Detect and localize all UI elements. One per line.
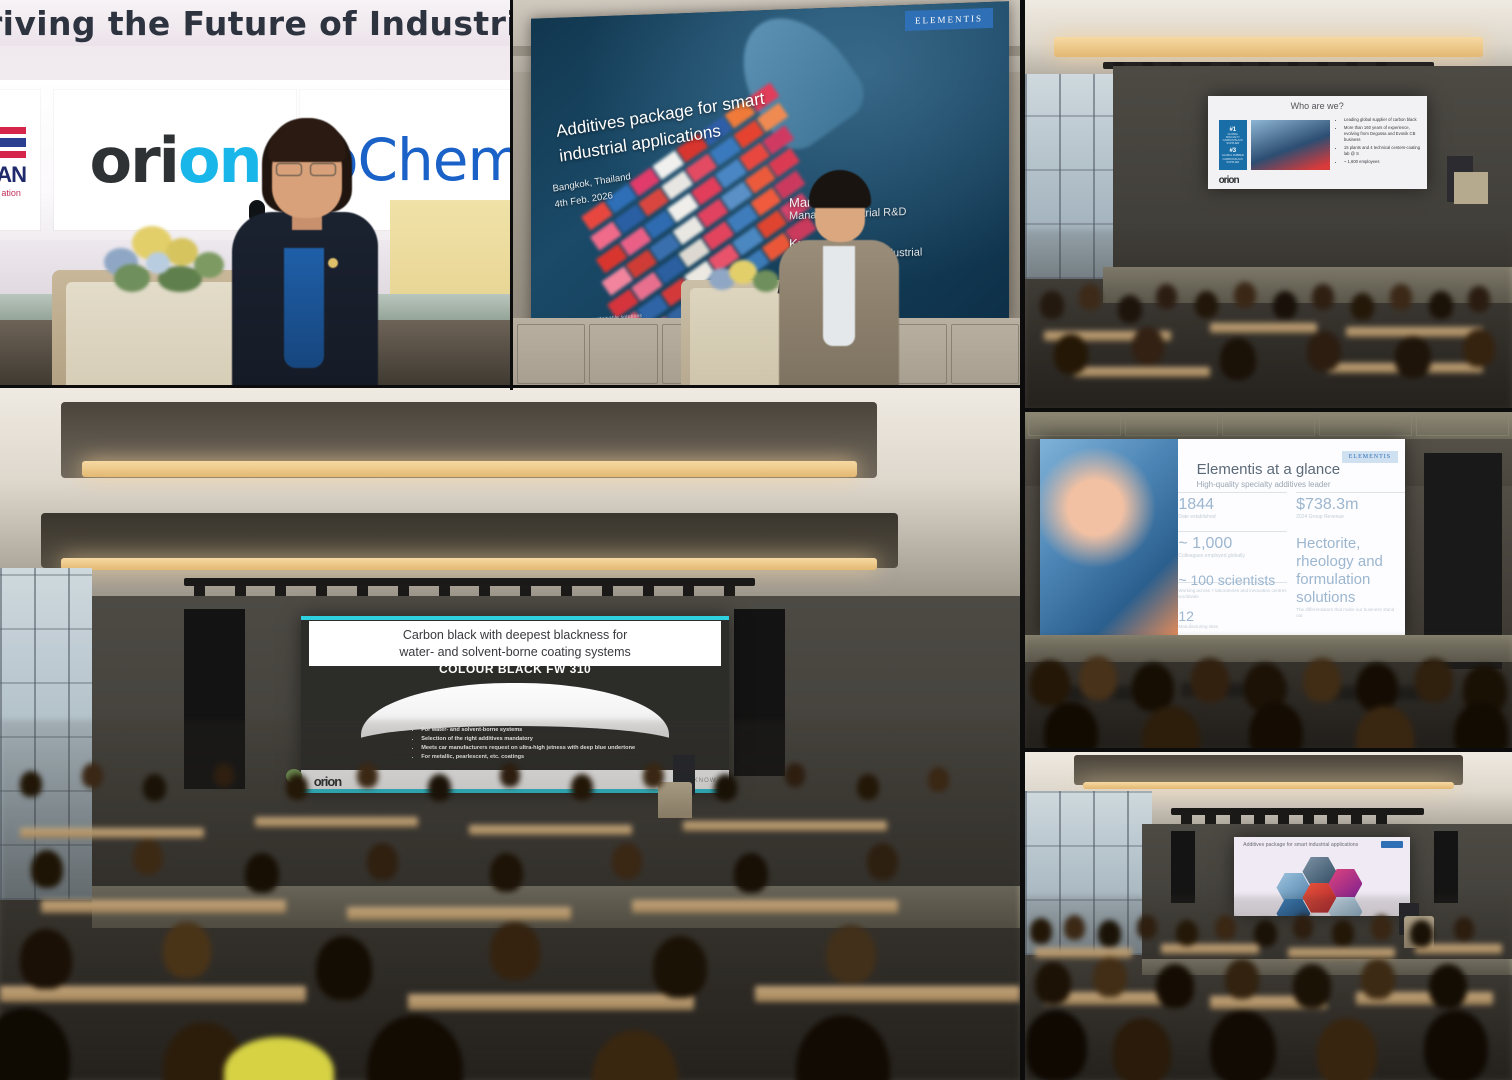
rank-2-caption: GLOBAL RUBBER CARBON BLACK SUPPLIER [1219,154,1247,164]
plant-photo [1251,120,1330,170]
speaker-shirt [284,248,324,368]
elementis-logo [1381,841,1403,848]
line-array-speaker-left [1171,831,1195,903]
presenter-figure [779,152,899,390]
stat-caption: Manufacturing sites [1178,624,1282,629]
ballroom-scene: ELEMENTIS Elementis at a glance High-qua… [1025,412,1512,750]
lighting-truss [184,578,755,586]
slide-bullet: More than 160 years of experience, evolv… [1344,125,1420,143]
ballroom-scene: Additives package for smart industrial a… [1025,752,1512,1080]
audience [1025,896,1512,1080]
stat-caption: Colleagues employed globally [1178,553,1282,559]
panel-speaker-podium-welcome: riving the Future of Industrial AN ation… [0,0,510,390]
panel-main-ballroom-colour-black: Carbon black with deepest blackness for … [0,388,1020,1080]
thai-logo-sub: ation [0,188,26,198]
presenter-hair [809,170,871,208]
stat-caption: Working across 7 laboratories and innova… [1178,588,1287,600]
audience [1025,635,1512,750]
logo-thai-association: AN ation [0,90,40,230]
elementis-logo: ELEMENTIS [905,8,993,31]
audience [1025,230,1512,410]
elementis-logo: ELEMENTIS [1342,451,1398,463]
panel-elementis-hexagons: Additives package for smart industrial a… [1025,752,1512,1080]
slide-subtitle: High-quality specialty additives leader [1197,480,1387,489]
line-array-speaker-right [1434,831,1458,903]
slide-title: Additives package for smart industrial a… [1243,842,1358,848]
photo-collage: riving the Future of Industrial AN ation… [0,0,1512,1080]
ceiling-recess [1074,755,1464,785]
orion-wordmark-main: ori [90,124,178,197]
audience [0,720,1020,1080]
thai-logo-word: AN [0,162,26,188]
slide-title-line1: Carbon black with deepest blackness for [313,627,716,643]
glasses-icon [276,163,338,176]
stat-value: ~ 1,000 [1178,535,1282,553]
stat-value: Hectorite, rheology and formulation solu… [1296,535,1400,607]
ceiling-cove-light [1083,782,1453,790]
stat-value: 1844 [1178,496,1282,514]
orion-logo: orion [1219,175,1239,186]
flower-arrangement [96,218,236,296]
stat-caption: 2024 Group Revenue [1296,514,1400,520]
stat-value: 12 [1178,608,1282,624]
slide-accent-band-top [301,616,729,620]
slide-title-box: Carbon black with deepest blackness for … [309,621,720,666]
ceiling-cove-light-2 [61,558,877,570]
panel-seam [1025,748,1512,752]
event-banner: riving the Future of Industrial [0,0,510,46]
panel-seam [1020,0,1025,1080]
lapel-pin [328,258,338,268]
panel-seam [510,0,513,390]
product-name: COLOUR BLACK FW 310 [301,662,729,676]
slide-bullet: ~ 1,600 employees [1344,159,1420,165]
ceiling-cove-light [82,461,857,478]
ballroom-scene: Carbon black with deepest blackness for … [0,388,1020,1080]
slide-title: Elementis at a glance [1197,461,1387,478]
stat-value: $738.3m [1296,496,1400,514]
banner-headline: riving the Future of Industrial [0,4,510,43]
laboratory-photo [1040,439,1179,635]
speaker-figure [232,122,378,390]
flower-arrangement [709,258,783,298]
ceiling-cove-light [1054,37,1483,58]
slide-who-are-we: Who are we? #1 GLOBAL SPECIALTY CARBON B… [1208,96,1427,188]
stat-caption: The differentiators that make our busine… [1296,607,1400,619]
panel-elementis-title-slide: Additives package for smart industrial a… [513,0,1023,390]
speaker-hair-front [268,118,346,162]
panel-seam [1025,408,1512,412]
panel-seam [0,385,1025,388]
slide-bullet: Leading global supplier of carbon black [1344,117,1420,123]
panel-elementis-at-a-glance: ELEMENTIS Elementis at a glance High-qua… [1025,412,1512,750]
lectern [1454,172,1488,204]
rank-1-caption: GLOBAL SPECIALTY CARBON BLACK SUPPLIER [1219,133,1247,146]
presenter-shirt [823,246,855,346]
slide-title: Who are we? [1208,101,1427,111]
rank-badge-column: #1 GLOBAL SPECIALTY CARBON BLACK SUPPLIE… [1219,120,1247,170]
slide-bullet: 15 plants and 4 technical centers-coatin… [1344,145,1420,157]
stat-caption: Date established [1178,514,1282,520]
slide-elementis-at-a-glance: ELEMENTIS Elementis at a glance High-qua… [1040,439,1405,635]
ballroom-scene: Who are we? #1 GLOBAL SPECIALTY CARBON B… [1025,0,1512,410]
stat-value: ~ 100 scientists [1178,572,1287,588]
stats-panel: ELEMENTIS Elementis at a glance High-qua… [1178,439,1404,635]
slide-title-line2: water- and solvent-borne coating systems [313,644,716,660]
panel-orion-who-are-we: Who are we? #1 GLOBAL SPECIALTY CARBON B… [1025,0,1512,410]
wall-moulding [1025,412,1512,439]
